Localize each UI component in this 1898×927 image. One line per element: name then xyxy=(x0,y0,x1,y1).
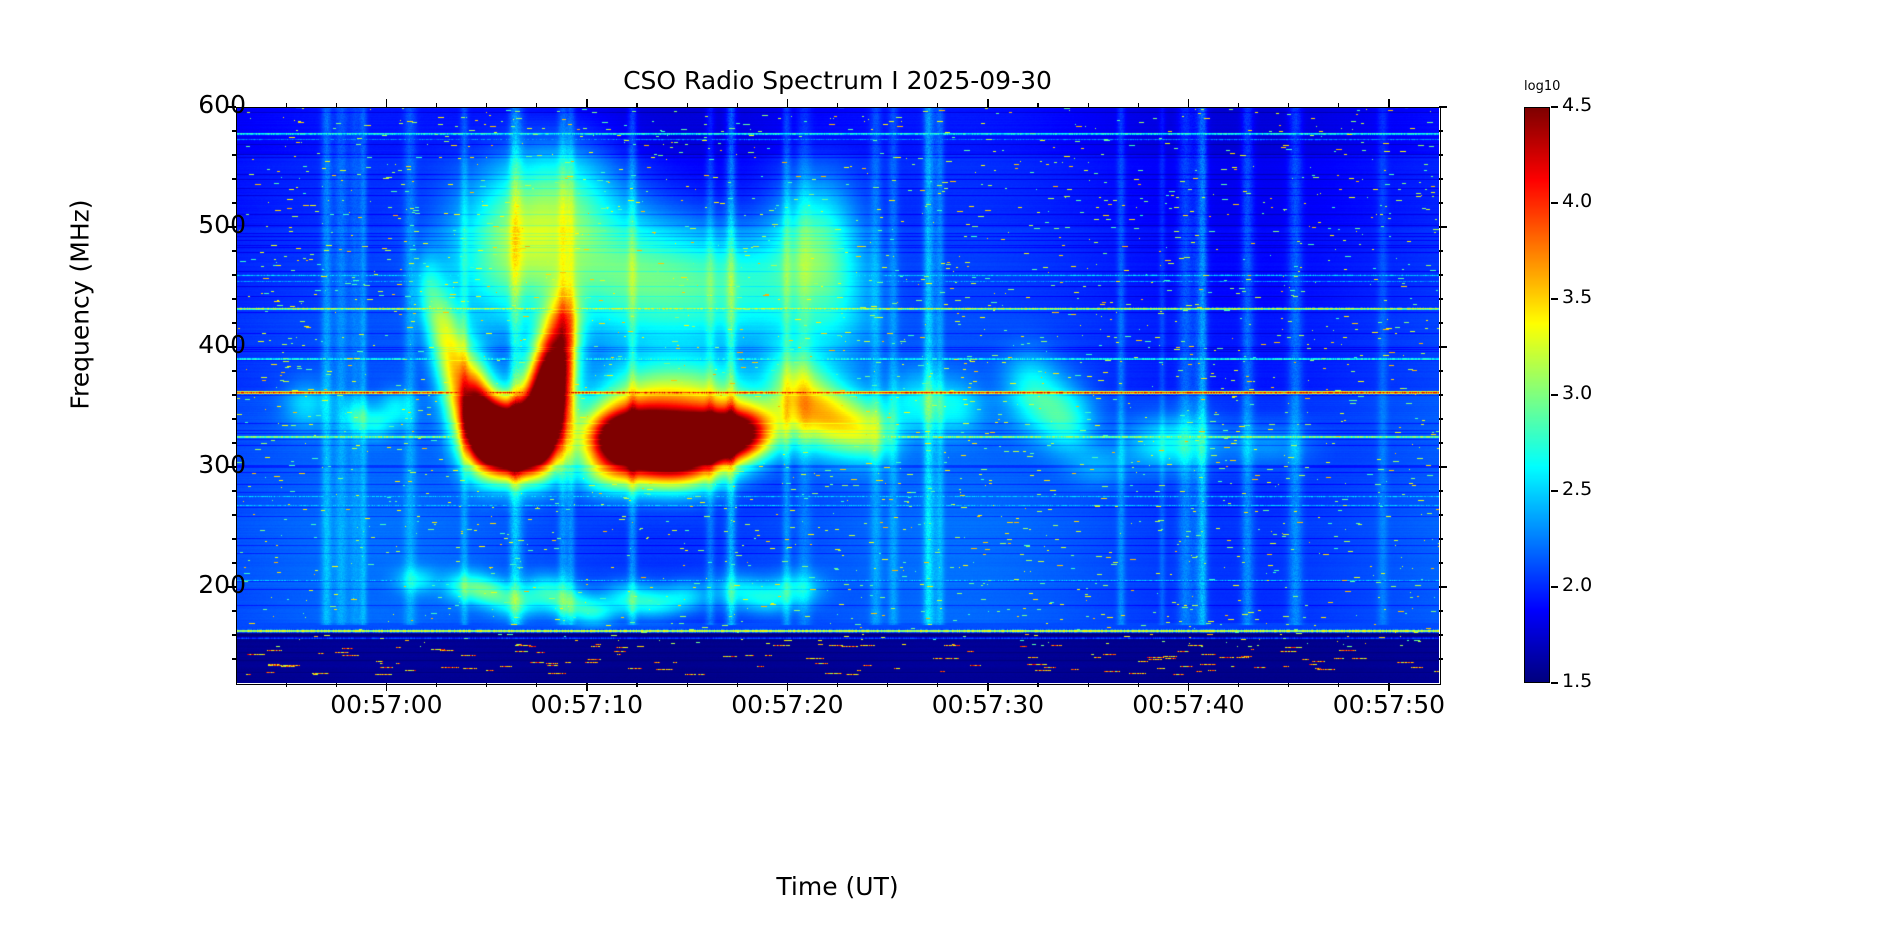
x-tick-mark-top xyxy=(987,99,989,107)
x-minor-tick-top xyxy=(837,103,838,107)
colorbar-tick-label: 4.0 xyxy=(1562,192,1592,211)
y-minor-tick xyxy=(1439,202,1443,203)
x-minor-tick-top xyxy=(737,103,738,107)
y-minor-tick xyxy=(1439,154,1443,155)
x-minor-tick xyxy=(1338,683,1339,687)
y-minor-tick xyxy=(232,514,236,515)
y-tick-mark xyxy=(1439,346,1447,348)
y-tick-label: 200 xyxy=(126,572,246,597)
y-minor-tick xyxy=(1439,514,1443,515)
y-minor-tick xyxy=(1439,298,1443,299)
x-minor-tick xyxy=(887,683,888,687)
radio-spectrum-figure: CSO Radio Spectrum I 2025-09-30 Frequenc… xyxy=(0,0,1898,927)
x-minor-tick xyxy=(837,683,838,687)
x-minor-tick-top xyxy=(1138,103,1139,107)
page-title: CSO Radio Spectrum I 2025-09-30 xyxy=(236,66,1439,95)
x-tick-mark xyxy=(386,683,388,691)
y-minor-tick xyxy=(1439,562,1443,563)
y-minor-tick xyxy=(1439,322,1443,323)
x-minor-tick-top xyxy=(1088,103,1089,107)
x-minor-tick xyxy=(1037,683,1038,687)
x-minor-tick-top xyxy=(687,103,688,107)
y-tick-mark xyxy=(1439,226,1447,228)
x-tick-mark-top xyxy=(787,99,789,107)
x-minor-tick-top xyxy=(1037,103,1038,107)
y-tick-label: 600 xyxy=(126,92,246,117)
y-minor-tick xyxy=(232,274,236,275)
y-minor-tick xyxy=(1439,274,1443,275)
colorbar-tick-mark xyxy=(1551,586,1558,588)
colorbar-tick-label: 3.5 xyxy=(1562,288,1592,307)
y-minor-tick xyxy=(1439,634,1443,635)
x-minor-tick xyxy=(1088,683,1089,687)
x-minor-tick xyxy=(336,683,337,687)
x-minor-tick xyxy=(1288,683,1289,687)
x-tick-mark xyxy=(1388,683,1390,691)
x-tick-label: 00:57:20 xyxy=(702,692,872,717)
y-minor-tick xyxy=(232,370,236,371)
x-tick-label: 00:57:10 xyxy=(502,692,672,717)
x-minor-tick xyxy=(486,683,487,687)
x-axis-label: Time (UT) xyxy=(236,872,1439,901)
spectrogram-plot[interactable] xyxy=(236,107,1439,683)
x-tick-label: 00:57:50 xyxy=(1304,692,1474,717)
x-minor-tick xyxy=(737,683,738,687)
y-tick-mark xyxy=(228,106,236,108)
y-tick-mark xyxy=(228,466,236,468)
x-minor-tick-top xyxy=(486,103,487,107)
x-minor-tick xyxy=(636,683,637,687)
colorbar-tick-mark xyxy=(1551,106,1558,108)
x-minor-tick-top xyxy=(937,103,938,107)
y-minor-tick xyxy=(1439,394,1443,395)
y-minor-tick xyxy=(232,634,236,635)
colorbar-tick-mark xyxy=(1551,202,1558,204)
y-minor-tick xyxy=(1439,442,1443,443)
y-minor-tick xyxy=(1439,250,1443,251)
x-tick-label: 00:57:40 xyxy=(1103,692,1273,717)
y-minor-tick xyxy=(232,178,236,179)
x-tick-mark-top xyxy=(1388,99,1390,107)
x-minor-tick xyxy=(1138,683,1139,687)
x-minor-tick-top xyxy=(536,103,537,107)
x-minor-tick xyxy=(687,683,688,687)
colorbar-tick-mark xyxy=(1551,394,1558,396)
y-minor-tick xyxy=(232,418,236,419)
x-tick-mark xyxy=(787,683,789,691)
y-minor-tick xyxy=(232,490,236,491)
x-minor-tick-top xyxy=(887,103,888,107)
x-tick-label: 00:57:30 xyxy=(903,692,1073,717)
x-minor-tick-top xyxy=(636,103,637,107)
y-minor-tick xyxy=(232,250,236,251)
x-minor-tick xyxy=(937,683,938,687)
x-tick-mark xyxy=(1188,683,1190,691)
x-minor-tick xyxy=(436,683,437,687)
x-tick-label: 00:57:00 xyxy=(301,692,471,717)
x-minor-tick-top xyxy=(336,103,337,107)
x-minor-tick xyxy=(1238,683,1239,687)
colorbar-tick-label: 1.5 xyxy=(1562,672,1592,691)
y-minor-tick xyxy=(232,202,236,203)
y-tick-mark xyxy=(228,346,236,348)
colorbar-tick-label: 2.0 xyxy=(1562,576,1592,595)
y-minor-tick xyxy=(232,442,236,443)
y-axis-label: Frequency (MHz) xyxy=(66,65,95,545)
x-minor-tick-top xyxy=(286,103,287,107)
y-minor-tick xyxy=(1439,658,1443,659)
x-minor-tick-top xyxy=(1338,103,1339,107)
y-minor-tick xyxy=(232,154,236,155)
x-tick-mark-top xyxy=(1188,99,1190,107)
y-tick-mark xyxy=(1439,586,1447,588)
y-tick-mark xyxy=(1439,106,1447,108)
colorbar-title: log10 xyxy=(1524,79,1560,94)
colorbar-tick-mark xyxy=(1551,490,1558,492)
x-tick-mark-top xyxy=(386,99,388,107)
colorbar[interactable] xyxy=(1524,107,1550,683)
colorbar-tick-mark xyxy=(1551,682,1558,684)
x-minor-tick xyxy=(286,683,287,687)
y-minor-tick xyxy=(232,394,236,395)
x-tick-mark xyxy=(586,683,588,691)
colorbar-gradient xyxy=(1524,107,1550,683)
y-tick-mark xyxy=(228,586,236,588)
x-minor-tick xyxy=(536,683,537,687)
y-minor-tick xyxy=(1439,418,1443,419)
y-minor-tick xyxy=(1439,178,1443,179)
colorbar-tick-label: 4.5 xyxy=(1562,96,1592,115)
x-tick-mark-top xyxy=(586,99,588,107)
x-minor-tick-top xyxy=(436,103,437,107)
colorbar-tick-mark xyxy=(1551,298,1558,300)
x-minor-tick-top xyxy=(1238,103,1239,107)
y-minor-tick xyxy=(232,130,236,131)
y-minor-tick xyxy=(232,658,236,659)
y-tick-label: 400 xyxy=(126,332,246,357)
y-minor-tick xyxy=(232,538,236,539)
colorbar-tick-label: 2.5 xyxy=(1562,480,1592,499)
spectrogram-canvas[interactable] xyxy=(236,107,1439,683)
y-minor-tick xyxy=(232,322,236,323)
y-tick-label: 500 xyxy=(126,212,246,237)
x-minor-tick-top xyxy=(1288,103,1289,107)
y-minor-tick xyxy=(1439,610,1443,611)
x-tick-mark xyxy=(987,683,989,691)
y-minor-tick xyxy=(1439,538,1443,539)
y-tick-label: 300 xyxy=(126,452,246,477)
y-minor-tick xyxy=(232,298,236,299)
y-minor-tick xyxy=(1439,490,1443,491)
y-tick-mark xyxy=(228,226,236,228)
colorbar-tick-label: 3.0 xyxy=(1562,384,1592,403)
y-minor-tick xyxy=(232,610,236,611)
y-tick-mark xyxy=(1439,466,1447,468)
y-minor-tick xyxy=(232,562,236,563)
y-minor-tick xyxy=(1439,370,1443,371)
y-minor-tick xyxy=(1439,130,1443,131)
